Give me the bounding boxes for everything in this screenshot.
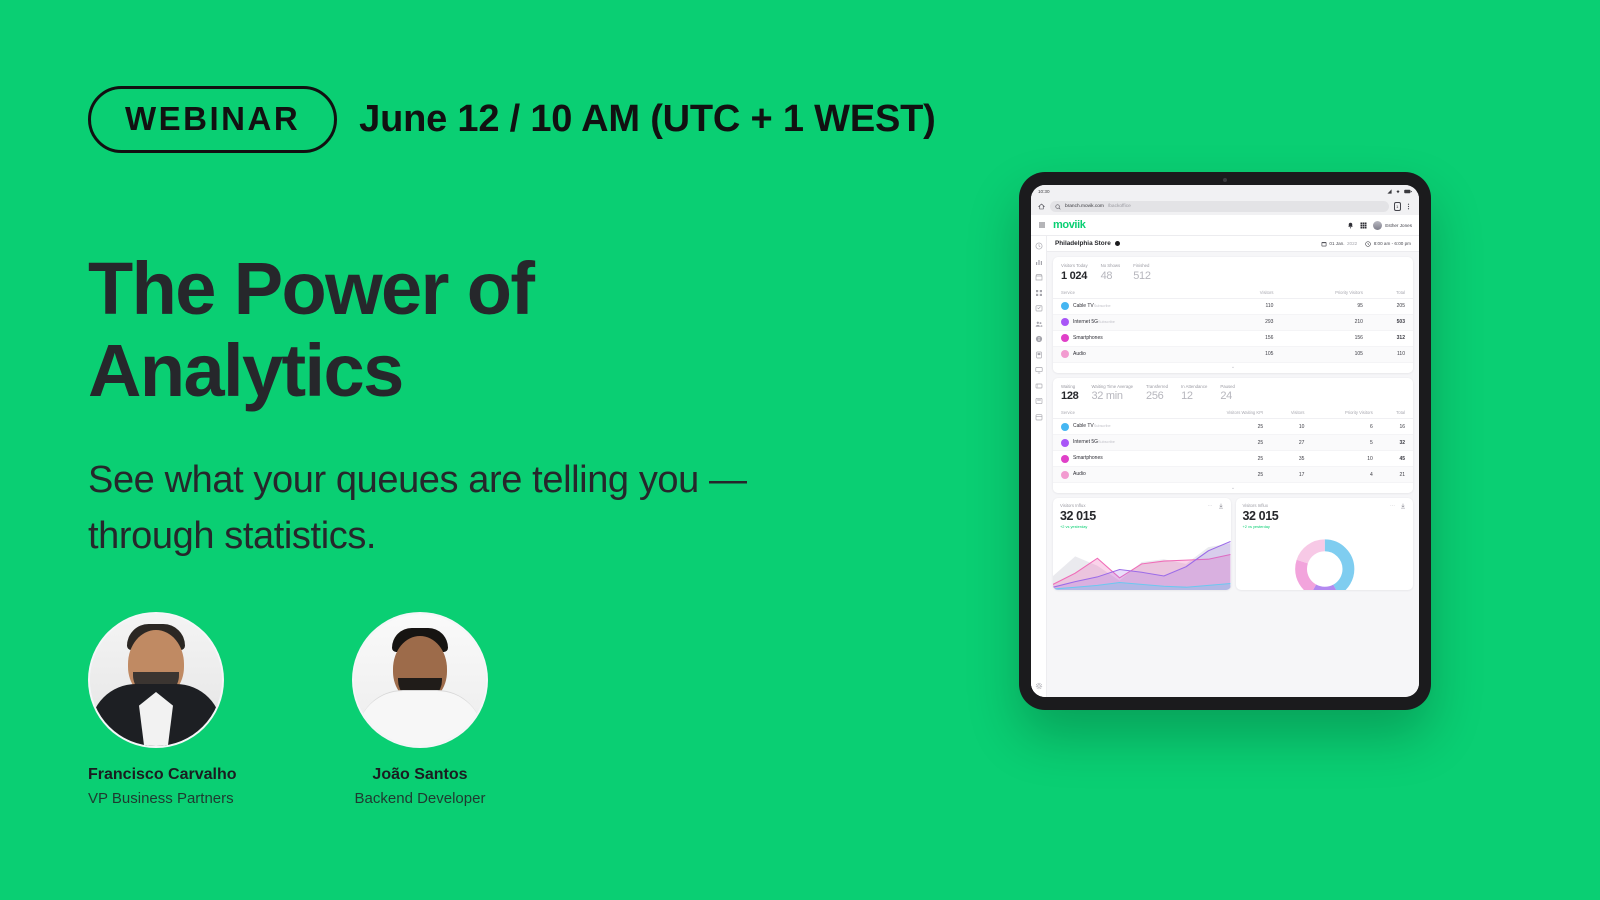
dashboard-content: Philadelphia Store 01 Jan. 2022 8:00 am … xyxy=(1047,236,1419,697)
kpi-transferred: Transferred 256 xyxy=(1146,384,1168,403)
date-filter[interactable]: 01 Jan. 2022 xyxy=(1321,241,1357,247)
kpi-paused: Paused 24 xyxy=(1220,384,1235,403)
cell-total: 21 xyxy=(1381,467,1413,483)
kpi-value: 512 xyxy=(1133,270,1150,282)
cell-priority-visitors: 95 xyxy=(1281,298,1370,314)
cell-priority-visitors: 105 xyxy=(1281,346,1370,362)
store-name: Philadelphia Store xyxy=(1055,240,1111,247)
speaker-list: Francisco Carvalho VP Business Partners … xyxy=(88,612,488,807)
kpi-value: 48 xyxy=(1101,270,1121,282)
column-header-priority[interactable]: Priority Visitors xyxy=(1281,287,1370,299)
kpi-label: Finished xyxy=(1133,263,1150,268)
table-row[interactable]: Cable TVSubscribe2510616 xyxy=(1053,419,1413,435)
page-subtitle: See what your queues are telling you — t… xyxy=(88,452,918,564)
table-row[interactable]: Cable TVSubscribe11095205 xyxy=(1053,298,1413,314)
app-logo: moviik xyxy=(1053,219,1085,231)
donut-chart xyxy=(1236,532,1414,590)
kpi-label: Waiting Time Average xyxy=(1091,384,1133,389)
hamburger-icon[interactable] xyxy=(1038,221,1046,229)
service-color-icon xyxy=(1061,455,1069,463)
kpi-waiting-time-average: Waiting Time Average 32 min xyxy=(1091,384,1133,403)
cell-visitors-waiting-kpi: 25 xyxy=(1186,435,1271,451)
cell-visitors: 35 xyxy=(1271,451,1312,467)
service-name: Cable TV xyxy=(1073,423,1094,429)
more-horizontal-icon[interactable]: ⋯ xyxy=(1208,503,1213,509)
service-color-icon xyxy=(1061,334,1069,342)
cell-visitors: 110 xyxy=(1227,298,1281,314)
chart-value: 32 015 xyxy=(1243,509,1279,523)
sidebar-item-monitor[interactable] xyxy=(1035,366,1043,374)
cell-total: 32 xyxy=(1381,435,1413,451)
visitors-influx-area-card: Visitors Influx 32 015 +2 vs yesterday ⋯ xyxy=(1053,498,1231,590)
table-row[interactable]: Smartphones156156312 xyxy=(1053,330,1413,346)
kpi-value: 32 min xyxy=(1091,390,1133,402)
settings-gear-icon[interactable] xyxy=(1035,682,1043,690)
cell-service: Smartphones xyxy=(1053,451,1186,467)
kpi-label: Waiting xyxy=(1061,384,1078,389)
webinar-datetime: June 12 / 10 AM (UTC + 1 WEST) xyxy=(359,98,935,141)
service-name: Audio xyxy=(1073,351,1086,357)
sidebar-item-kiosk[interactable] xyxy=(1035,351,1043,359)
service-color-icon xyxy=(1061,471,1069,479)
sidebar-item-store[interactable] xyxy=(1035,273,1043,281)
webinar-meta-row: WEBINAR June 12 / 10 AM (UTC + 1 WEST) xyxy=(88,86,936,153)
speaker-name: Francisco Carvalho xyxy=(88,766,224,784)
signal-icon xyxy=(1387,189,1392,194)
kpi-in-attendance: In Attendance 12 xyxy=(1181,384,1207,403)
service-sub: Subscribe xyxy=(1094,424,1111,428)
column-header-priority[interactable]: Priority Visitors xyxy=(1312,407,1380,419)
kpi-visitors-today: Visitors Today 1 024 xyxy=(1061,263,1088,282)
kpi-no-shows: No Shows 48 xyxy=(1101,263,1121,282)
power-icon[interactable] xyxy=(1115,241,1121,247)
bell-icon[interactable] xyxy=(1347,222,1354,229)
column-header-visitors[interactable]: Visitors xyxy=(1227,287,1281,299)
cell-service: Smartphones xyxy=(1053,330,1227,346)
tab-count-badge[interactable]: 1 xyxy=(1394,202,1401,211)
service-name: Internet 5G xyxy=(1073,439,1098,445)
cell-priority-visitors: 210 xyxy=(1281,314,1370,330)
cell-total: 312 xyxy=(1371,330,1413,346)
table-row[interactable]: Smartphones25351045 xyxy=(1053,451,1413,467)
today-kpi-row: Visitors Today 1 024 No Shows 48 Finishe… xyxy=(1053,257,1413,287)
cell-priority-visitors: 5 xyxy=(1312,435,1380,451)
url-host: branch.movik.com xyxy=(1065,204,1104,209)
tablet-device: 10:30 branch.movik.com/backoffice 1 movi… xyxy=(1019,172,1431,710)
sidebar-item-people[interactable] xyxy=(1035,320,1043,328)
kpi-label: Paused xyxy=(1220,384,1235,389)
column-header-service[interactable]: Service xyxy=(1053,287,1227,299)
service-color-icon xyxy=(1061,439,1069,447)
app-header: moviik Esther Jones xyxy=(1031,215,1419,236)
visitors-today-card: Visitors Today 1 024 No Shows 48 Finishe… xyxy=(1053,257,1413,373)
cell-total: 110 xyxy=(1371,346,1413,362)
subhead-line-2: through statistics. xyxy=(88,515,376,557)
kpi-finished: Finished 512 xyxy=(1133,263,1150,282)
headline-line-1: The Power of xyxy=(88,247,533,330)
speaker-card: Francisco Carvalho VP Business Partners xyxy=(88,612,224,807)
waiting-service-table: Service Visitors Waiting KPI Visitors Pr… xyxy=(1053,407,1413,483)
table-header-row: Service Visitors Priority Visitors Total xyxy=(1053,287,1413,299)
clock-icon xyxy=(1365,241,1371,247)
status-bar: 10:30 xyxy=(1031,185,1419,198)
user-menu[interactable]: Esther Jones xyxy=(1373,221,1412,230)
service-name: Smartphones xyxy=(1073,335,1103,341)
column-header-total[interactable]: Total xyxy=(1381,407,1413,419)
table-row[interactable]: Audio2517421 xyxy=(1053,467,1413,483)
column-header-visitors[interactable]: Visitors xyxy=(1271,407,1312,419)
tablet-screen: 10:30 branch.movik.com/backoffice 1 movi… xyxy=(1031,185,1419,697)
kpi-label: No Shows xyxy=(1101,263,1121,268)
url-path: /backoffice xyxy=(1108,204,1131,209)
service-name: Cable TV xyxy=(1073,303,1094,309)
table-row[interactable]: Internet 5GSubscribe293210503 xyxy=(1053,314,1413,330)
service-sub: Subscribe xyxy=(1098,320,1115,324)
app-body: Philadelphia Store 01 Jan. 2022 8:00 am … xyxy=(1031,236,1419,697)
sidebar-item-calendar[interactable] xyxy=(1035,413,1043,421)
kpi-label: In Attendance xyxy=(1181,384,1207,389)
expand-today-icon[interactable]: ⌄ xyxy=(1053,363,1413,373)
speaker-role: Backend Developer xyxy=(352,790,488,807)
cell-visitors: 105 xyxy=(1227,346,1281,362)
headline-line-2: Analytics xyxy=(88,329,403,412)
hours-filter[interactable]: 8:00 am - 6:00 pm xyxy=(1365,241,1411,247)
kpi-value: 1 024 xyxy=(1061,270,1088,282)
cell-visitors: 17 xyxy=(1271,467,1312,483)
cell-visitors-waiting-kpi: 25 xyxy=(1186,419,1271,435)
table-row[interactable]: Audio105105110 xyxy=(1053,346,1413,362)
sidebar-item-display[interactable] xyxy=(1035,397,1043,405)
avatar xyxy=(352,612,488,748)
waiting-kpi-row: Waiting 128 Waiting Time Average 32 min … xyxy=(1053,378,1413,408)
download-icon[interactable] xyxy=(1218,503,1224,509)
calendar-icon xyxy=(1321,241,1327,247)
service-name: Smartphones xyxy=(1073,455,1103,461)
sidebar-item-grid[interactable] xyxy=(1035,289,1043,297)
service-name: Audio xyxy=(1073,471,1086,477)
status-time: 10:30 xyxy=(1038,189,1050,194)
date-value: 01 Jan. xyxy=(1329,241,1344,246)
cell-total: 45 xyxy=(1381,451,1413,467)
download-icon[interactable] xyxy=(1400,503,1406,509)
service-sub: Subscribe xyxy=(1098,440,1115,444)
cell-priority-visitors: 6 xyxy=(1312,419,1380,435)
sidebar-item-bar-chart[interactable] xyxy=(1035,258,1043,266)
kpi-value: 12 xyxy=(1181,390,1207,402)
cell-visitors-waiting-kpi: 25 xyxy=(1186,467,1271,483)
battery-icon xyxy=(1404,189,1412,194)
cell-total: 503 xyxy=(1371,314,1413,330)
sidebar-item-info[interactable] xyxy=(1035,335,1043,343)
service-color-icon xyxy=(1061,318,1069,326)
kpi-waiting: Waiting 128 xyxy=(1061,384,1078,403)
chart-value: 32 015 xyxy=(1060,509,1096,523)
kpi-value: 256 xyxy=(1146,390,1168,402)
sidebar-rail xyxy=(1031,236,1047,697)
store-header: Philadelphia Store 01 Jan. 2022 8:00 am … xyxy=(1047,236,1419,252)
chart-label: Visitors Influx xyxy=(1060,503,1096,508)
more-horizontal-icon[interactable]: ⋯ xyxy=(1390,503,1395,509)
cell-total: 205 xyxy=(1371,298,1413,314)
expand-waiting-icon[interactable]: ⌄ xyxy=(1053,483,1413,493)
kpi-value: 24 xyxy=(1220,390,1235,402)
cell-visitors: 293 xyxy=(1227,314,1281,330)
visitors-influx-donut-card: Visitors Influx 32 015 +2 vs yesterday ⋯ xyxy=(1236,498,1414,590)
service-color-icon xyxy=(1061,350,1069,358)
avatar xyxy=(1373,221,1382,230)
avatar xyxy=(88,612,224,748)
wifi-icon xyxy=(1395,189,1401,194)
service-sub: Subscribe xyxy=(1094,304,1111,308)
kpi-value: 128 xyxy=(1061,390,1078,402)
cell-visitors: 10 xyxy=(1271,419,1312,435)
charts-row: Visitors Influx 32 015 +2 vs yesterday ⋯ xyxy=(1053,498,1413,590)
cell-total: 16 xyxy=(1381,419,1413,435)
more-icon[interactable] xyxy=(1405,203,1412,210)
cell-visitors-waiting-kpi: 25 xyxy=(1186,451,1271,467)
search-icon xyxy=(1055,204,1061,210)
hours-value: 8:00 am - 6:00 pm xyxy=(1374,241,1411,246)
promo-column: WEBINAR June 12 / 10 AM (UTC + 1 WEST) T… xyxy=(88,0,1048,900)
chart-label: Visitors Influx xyxy=(1243,503,1279,508)
browser-toolbar: branch.movik.com/backoffice 1 xyxy=(1031,198,1419,215)
cell-service: Internet 5GSubscribe xyxy=(1053,314,1227,330)
column-header-kpi[interactable]: Visitors Waiting KPI xyxy=(1186,407,1271,419)
speaker-role: VP Business Partners xyxy=(88,790,224,807)
service-name: Internet 5G xyxy=(1073,319,1098,325)
cell-service: Audio xyxy=(1053,346,1227,362)
address-bar[interactable]: branch.movik.com/backoffice xyxy=(1050,201,1389,212)
chart-delta: +2 vs yesterday xyxy=(1243,524,1279,529)
cell-visitors: 27 xyxy=(1271,435,1312,451)
page-title: The Power of Analytics xyxy=(88,248,888,412)
waiting-card: Waiting 128 Waiting Time Average 32 min … xyxy=(1053,378,1413,494)
home-icon[interactable] xyxy=(1038,203,1045,210)
sidebar-item-calendar-check[interactable] xyxy=(1035,304,1043,312)
today-service-table: Service Visitors Priority Visitors Total… xyxy=(1053,287,1413,363)
column-header-total[interactable]: Total xyxy=(1371,287,1413,299)
column-header-service[interactable]: Service xyxy=(1053,407,1186,419)
date-year: 2022 xyxy=(1347,241,1357,246)
cell-priority-visitors: 156 xyxy=(1281,330,1370,346)
cell-visitors: 156 xyxy=(1227,330,1281,346)
table-header-row: Service Visitors Waiting KPI Visitors Pr… xyxy=(1053,407,1413,419)
cell-service: Cable TVSubscribe xyxy=(1053,419,1186,435)
webinar-badge: WEBINAR xyxy=(88,86,337,153)
service-color-icon xyxy=(1061,302,1069,310)
cell-service: Internet 5GSubscribe xyxy=(1053,435,1186,451)
speaker-card: João Santos Backend Developer xyxy=(352,612,488,807)
speaker-name: João Santos xyxy=(352,766,488,784)
cell-priority-visitors: 10 xyxy=(1312,451,1380,467)
sidebar-item-ticket[interactable] xyxy=(1035,382,1043,390)
cell-service: Audio xyxy=(1053,467,1186,483)
cell-priority-visitors: 4 xyxy=(1312,467,1380,483)
chart-delta: +2 vs yesterday xyxy=(1060,524,1096,529)
service-color-icon xyxy=(1061,423,1069,431)
cell-service: Cable TVSubscribe xyxy=(1053,298,1227,314)
kpi-label: Visitors Today xyxy=(1061,263,1088,268)
area-chart xyxy=(1053,534,1231,590)
kpi-label: Transferred xyxy=(1146,384,1168,389)
subhead-line-1: See what your queues are telling you — xyxy=(88,459,747,501)
dashboard-scroll-area[interactable]: Visitors Today 1 024 No Shows 48 Finishe… xyxy=(1047,252,1419,697)
table-row[interactable]: Internet 5GSubscribe2527532 xyxy=(1053,435,1413,451)
sidebar-item-clock[interactable] xyxy=(1035,242,1043,250)
user-name: Esther Jones xyxy=(1385,223,1412,228)
grid-apps-icon[interactable] xyxy=(1360,222,1367,229)
